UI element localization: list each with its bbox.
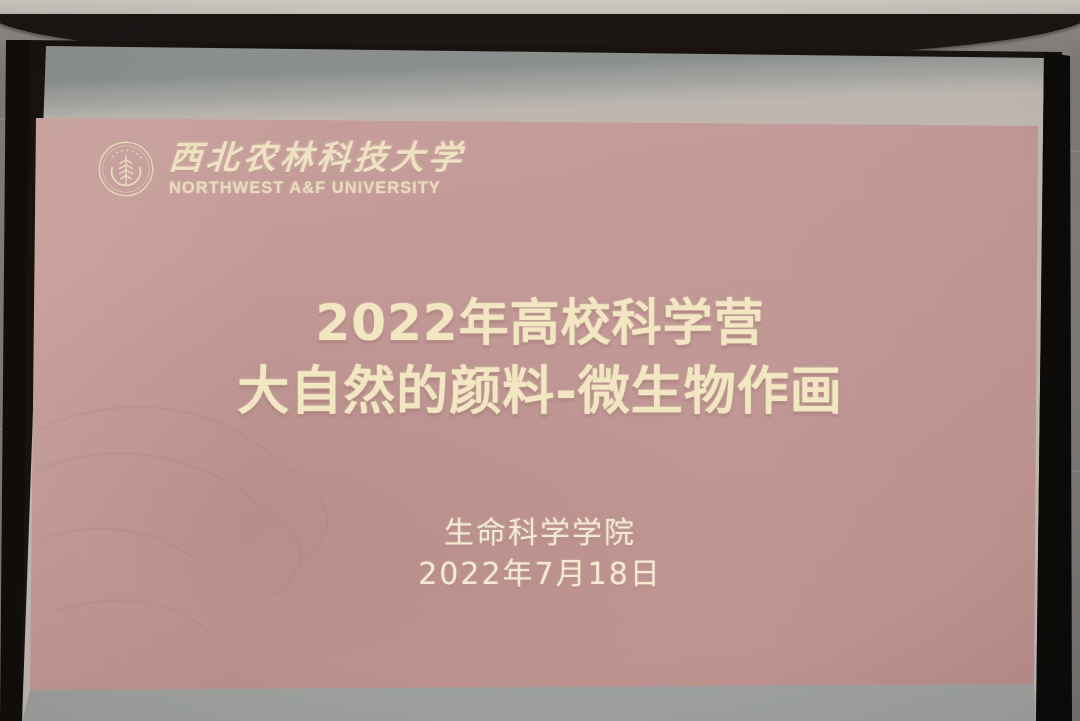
university-wheat-emblem-icon: [97, 140, 155, 198]
university-name-group: 西北农林科技大学 NORTHWEST A&F UNIVERSITY: [169, 140, 465, 198]
university-name-cn: 西北农林科技大学: [168, 140, 467, 177]
slide-subtitle-block: 生命科学学院 2022年7月18日: [0, 514, 1080, 596]
slide-organizer: 生命科学学院: [0, 514, 1080, 555]
slide-date: 2022年7月18日: [0, 555, 1080, 596]
screenshot-stage: 西北农林科技大学 NORTHWEST A&F UNIVERSITY 2022年高…: [0, 0, 1080, 721]
slide-title-line-1: 2022年高校科学营: [0, 295, 1080, 352]
university-brand-lockup: 西北农林科技大学 NORTHWEST A&F UNIVERSITY: [97, 140, 465, 198]
university-name-en: NORTHWEST A&F UNIVERSITY: [169, 179, 465, 198]
slide-title-block: 2022年高校科学营 大自然的颜料-微生物作画: [0, 295, 1080, 423]
slide-title-line-2: 大自然的颜料-微生物作画: [0, 362, 1080, 423]
